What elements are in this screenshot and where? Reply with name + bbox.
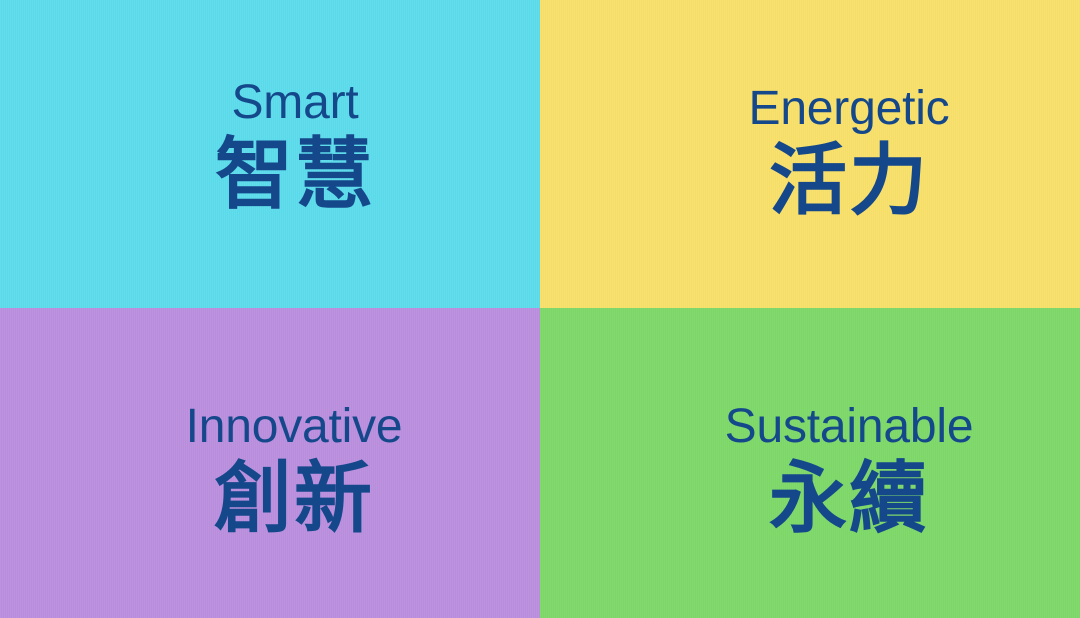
quadrant-innovative-label-en: Innovative: [186, 401, 403, 453]
quadrant-sustainable-text-block: Sustainable 永續: [725, 401, 974, 542]
quadrant-smart-label-en: Smart: [231, 77, 358, 129]
brand-values-board: Smart 智慧 Energetic 活力 Innovative 創新 Sust…: [0, 0, 1080, 618]
quadrant-smart[interactable]: Smart 智慧: [0, 0, 540, 308]
quadrant-energetic[interactable]: Energetic 活力: [540, 0, 1080, 308]
quadrant-smart-text-block: Smart 智慧: [215, 77, 375, 218]
quadrant-grid: Smart 智慧 Energetic 活力 Innovative 創新 Sust…: [0, 0, 1080, 618]
quadrant-sustainable-label-cjk: 永續: [769, 455, 929, 542]
quadrant-energetic-label-cjk: 活力: [769, 137, 929, 224]
quadrant-sustainable[interactable]: Sustainable 永續: [540, 308, 1080, 618]
quadrant-innovative[interactable]: Innovative 創新: [0, 308, 540, 618]
quadrant-innovative-label-cjk: 創新: [214, 455, 374, 542]
quadrant-sustainable-label-en: Sustainable: [725, 401, 974, 453]
quadrant-smart-label-cjk: 智慧: [215, 131, 375, 218]
quadrant-innovative-text-block: Innovative 創新: [186, 401, 403, 542]
quadrant-energetic-text-block: Energetic 活力: [749, 83, 950, 224]
quadrant-energetic-label-en: Energetic: [749, 83, 950, 135]
